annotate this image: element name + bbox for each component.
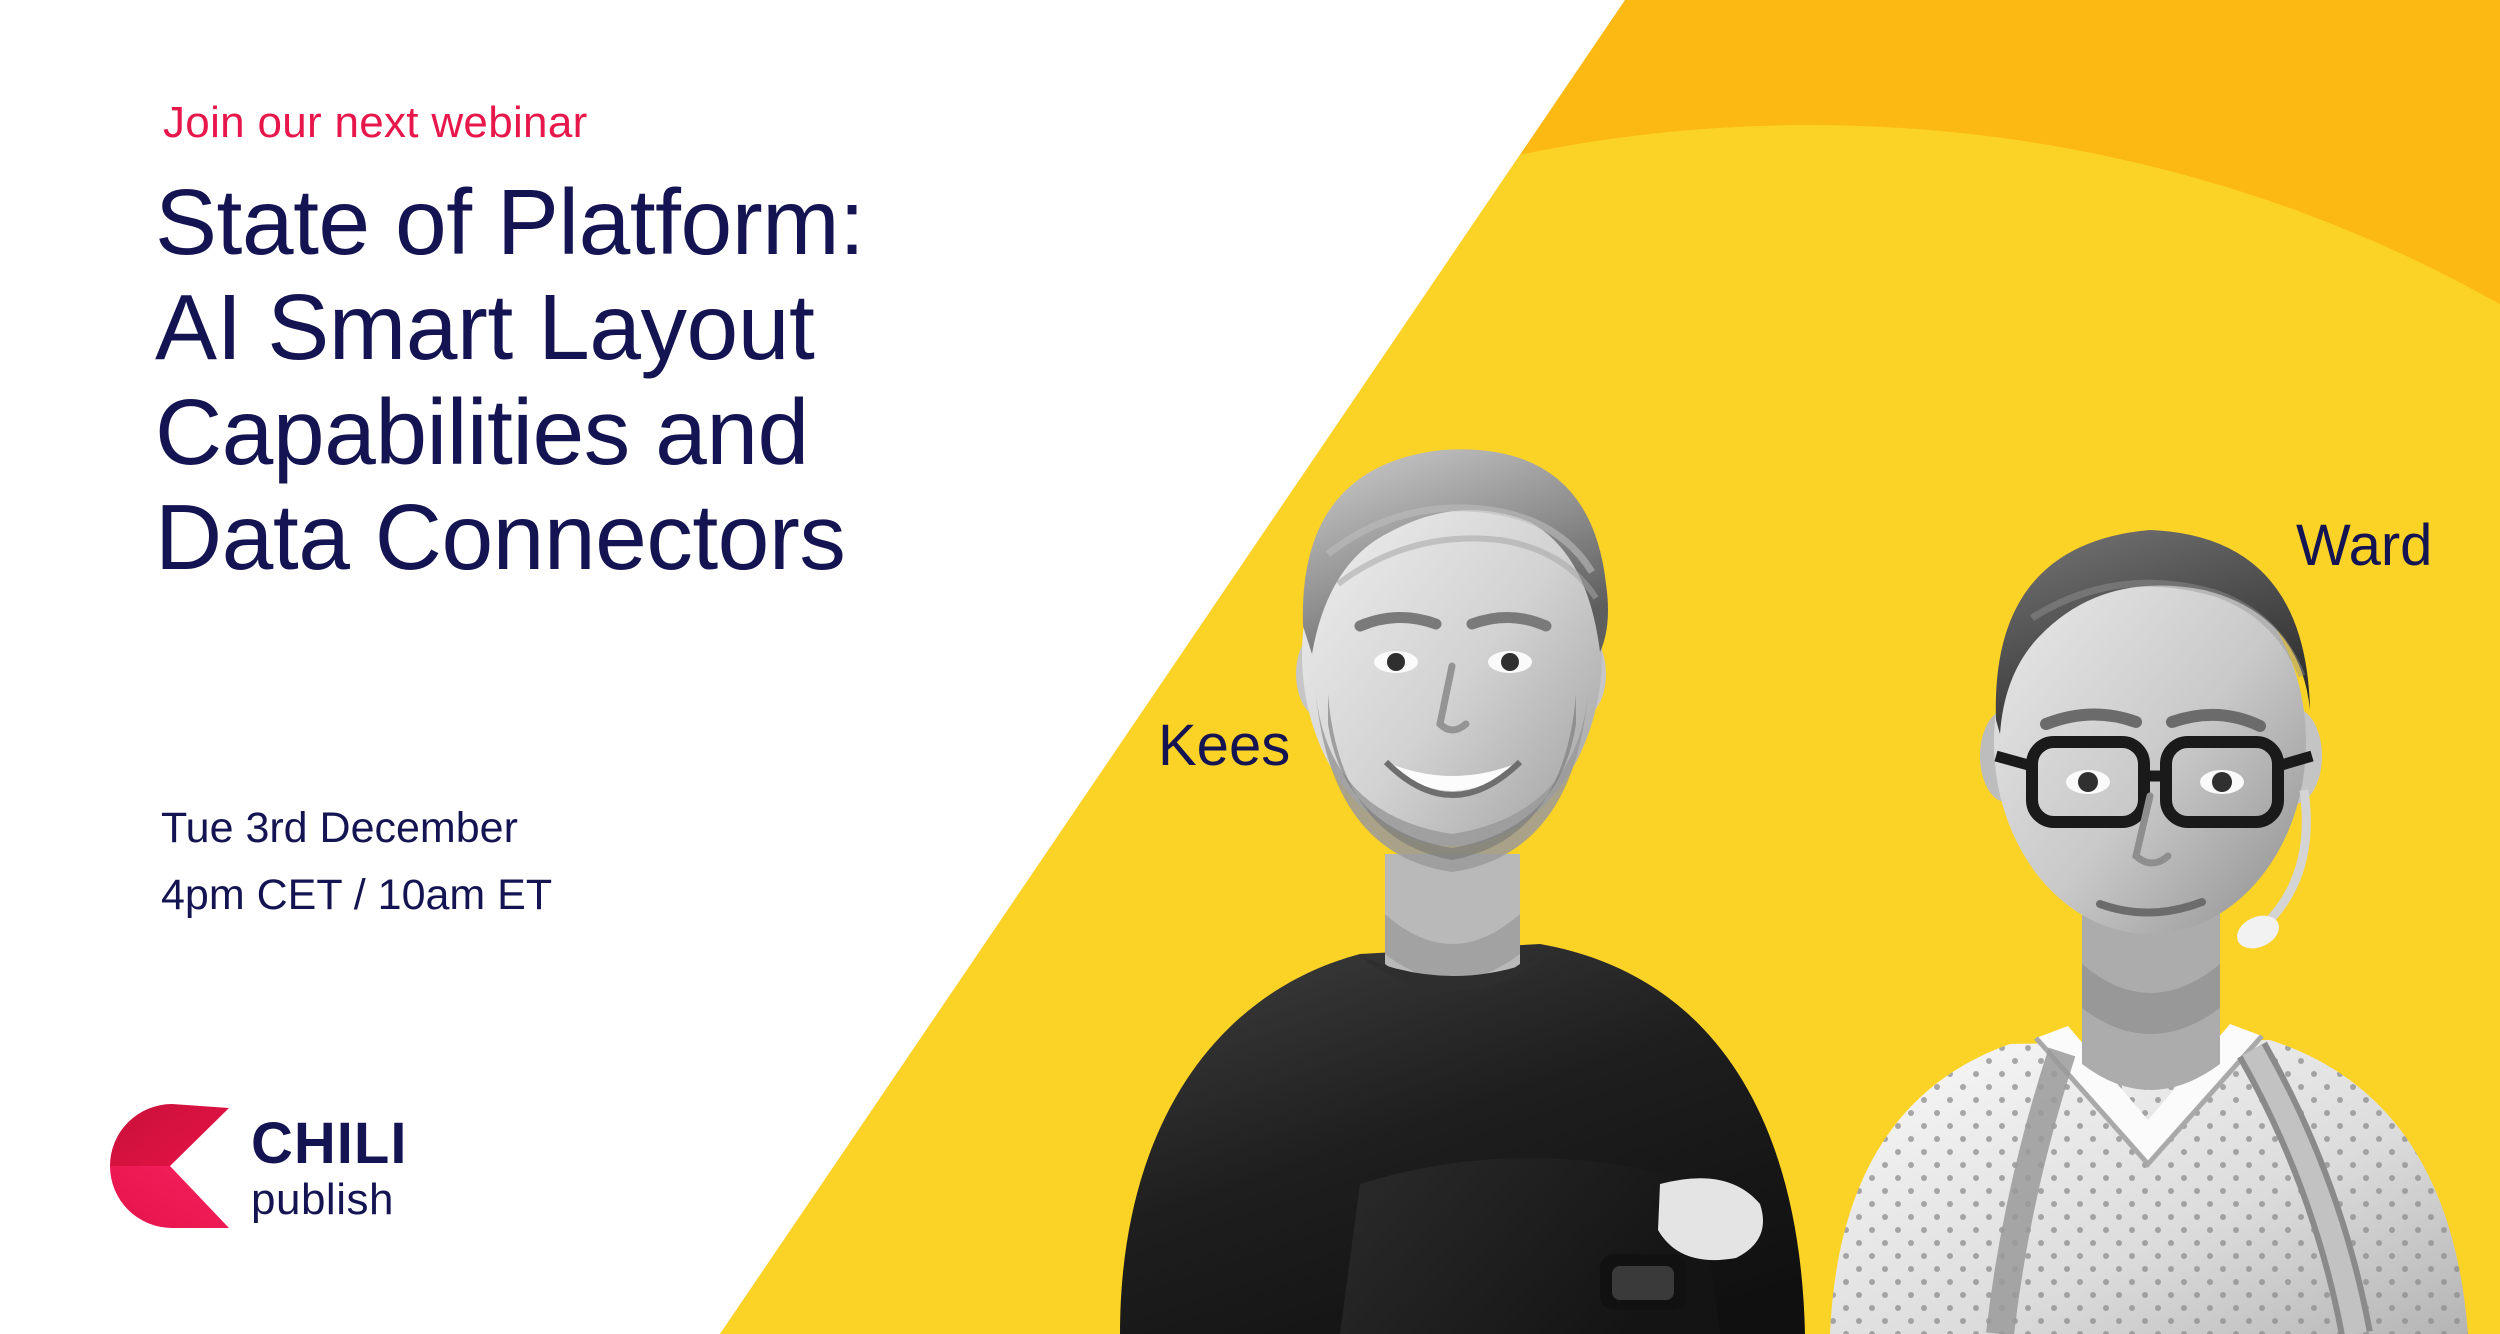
eyebrow-text: Join our next webinar bbox=[163, 98, 588, 148]
speaker-name-ward: Ward bbox=[2296, 512, 2432, 579]
chili-c-mark-icon bbox=[108, 1102, 233, 1230]
webinar-promo-banner: Kees Ward Join our next webinar State of… bbox=[0, 0, 2500, 1334]
headline-line-1: State of Platform: bbox=[155, 170, 864, 275]
logo-word-chili: CHILI bbox=[251, 1115, 407, 1173]
logo-word-publish: publish bbox=[251, 1178, 407, 1222]
event-details: Tue 3rd December 4pm CET / 10am ET bbox=[161, 795, 552, 928]
headline-line-2: AI Smart Layout bbox=[155, 275, 864, 380]
logo-wordmark: CHILI publish bbox=[251, 1111, 407, 1222]
headline-line-4: Data Connectors bbox=[155, 485, 864, 590]
headline-line-3: Capabilities and bbox=[155, 380, 864, 485]
chili-publish-logo: CHILI publish bbox=[108, 1102, 407, 1230]
event-date: Tue 3rd December bbox=[161, 795, 552, 862]
event-time: 4pm CET / 10am ET bbox=[161, 862, 552, 929]
page-title: State of Platform: AI Smart Layout Capab… bbox=[155, 170, 864, 590]
